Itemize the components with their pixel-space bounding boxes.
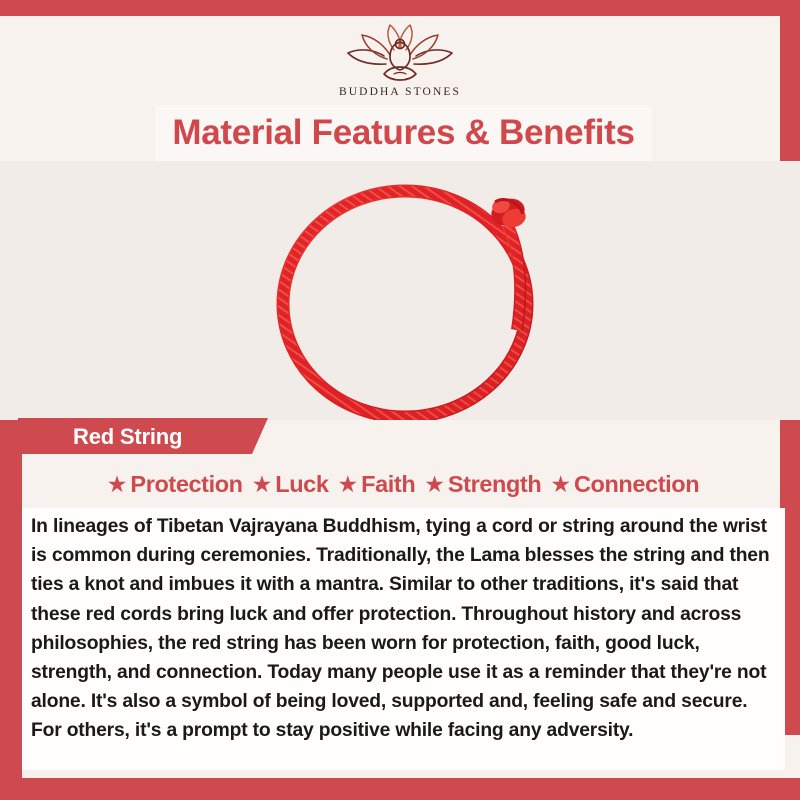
brand-wordmark: BUDDHA STONES [339, 86, 461, 98]
infographic-page: BUDDHA STONES Material Features & Benefi… [0, 0, 800, 800]
page-title: Material Features & Benefits [172, 113, 634, 153]
benefit-item-connection: ★ Connection [550, 471, 699, 498]
benefit-label: Strength [448, 471, 541, 498]
benefit-item-luck: ★ Luck [252, 471, 329, 498]
star-icon: ★ [550, 473, 571, 496]
benefit-item-strength: ★ Strength [424, 471, 541, 498]
benefit-label: Faith [361, 471, 415, 498]
red-string-bracelet-image [255, 166, 565, 420]
title-banner: Material Features & Benefits [155, 105, 652, 161]
product-tag: Red String [18, 418, 268, 454]
star-icon: ★ [338, 473, 359, 496]
benefit-item-protection: ★ Protection [107, 471, 243, 498]
description-text: In lineages of Tibetan Vajrayana Buddhis… [22, 512, 785, 746]
brand-logo: BUDDHA STONES [338, 22, 462, 98]
benefits-row: ★ Protection ★ Luck ★ Faith ★ Strength ★… [22, 462, 784, 506]
star-icon: ★ [424, 473, 445, 496]
benefit-label: Connection [574, 471, 699, 498]
benefit-label: Luck [275, 471, 328, 498]
star-icon: ★ [107, 473, 128, 496]
bottom-accent-bar [0, 778, 800, 800]
benefit-item-faith: ★ Faith [338, 471, 416, 498]
product-name: Red String [73, 424, 182, 450]
star-icon: ★ [252, 473, 273, 496]
top-accent-bar [0, 0, 800, 16]
lotus-meditation-icon [338, 22, 462, 84]
description-panel: In lineages of Tibetan Vajrayana Buddhis… [22, 508, 785, 770]
hero-image-area [0, 161, 800, 420]
brand-header: BUDDHA STONES [0, 16, 800, 104]
benefit-label: Protection [130, 471, 242, 498]
